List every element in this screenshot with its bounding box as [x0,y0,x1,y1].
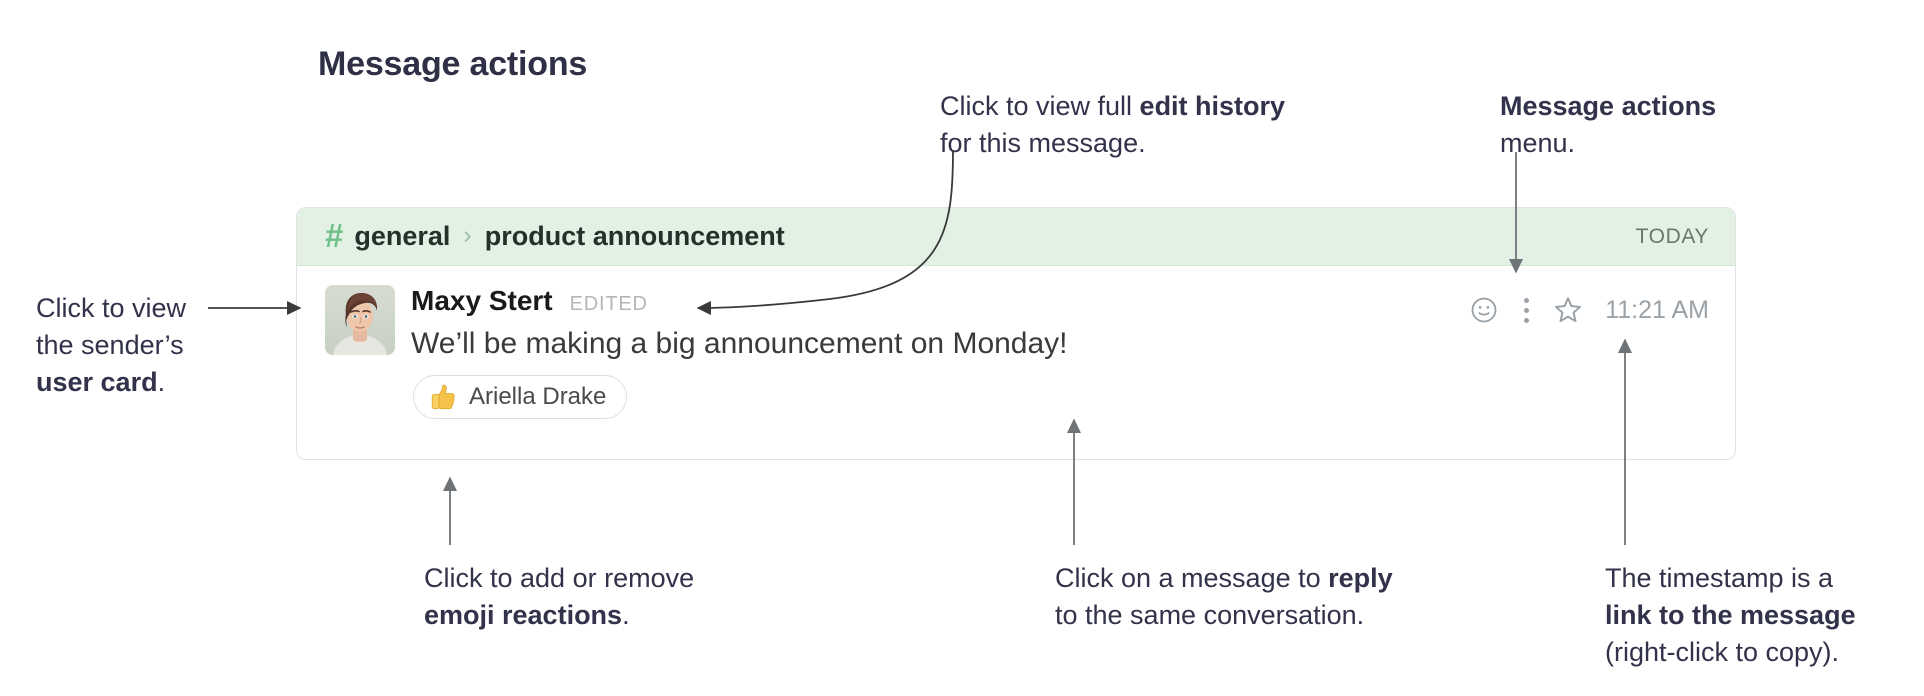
vertical-dots-glyph [1524,298,1529,323]
star-outline-icon[interactable] [1547,289,1589,331]
annotation-reply-bold: reply [1328,563,1393,593]
annotation-emoji-bold: emoji reactions [424,600,622,630]
date-label: TODAY [1636,225,1709,249]
annotation-edit-history-line1-pre: Click to view full [940,91,1140,121]
reaction-pill[interactable]: Ariella Drake [413,375,627,419]
page-title: Message actions [318,45,587,84]
annotation-actions-menu-line2: menu. [1500,128,1575,158]
dot [1524,308,1529,313]
annotation-timestamp-bold: link to the message [1605,600,1856,630]
emoji-smiley-icon[interactable] [1463,289,1505,331]
edited-badge[interactable]: EDITED [570,293,648,316]
annotation-edit-history: Click to view full edit history for this… [940,88,1360,162]
hash-icon: # [325,219,343,252]
annotation-timestamp-line1: The timestamp is a [1605,563,1833,593]
annotation-user-card-line1: Click to view [36,293,186,323]
annotation-edit-history-bold: edit history [1140,91,1286,121]
annotation-timestamp-line3: (right-click to copy). [1605,637,1839,667]
annotation-emoji-line1: Click to add or remove [424,563,694,593]
reaction-user-name: Ariella Drake [469,383,606,411]
stream-topic-header: # general › product announcement TODAY [297,208,1735,266]
message-row[interactable]: Maxy Stert EDITED We’ll be making a big … [297,266,1735,419]
topic-name[interactable]: product announcement [485,221,785,252]
annotation-actions-menu: Message actions menu. [1500,88,1800,162]
annotation-reply-line2: to the same conversation. [1055,600,1364,630]
reaction-row: Ariella Drake [411,361,1709,419]
annotation-emoji-period: . [622,600,630,630]
avatar[interactable] [325,285,395,355]
annotation-timestamp: The timestamp is a link to the message (… [1605,560,1905,671]
stream-name[interactable]: general [354,221,450,252]
message-body-text[interactable]: We’ll be making a big announcement on Mo… [411,327,1709,361]
annotation-actions-menu-bold: Message actions [1500,91,1716,121]
vertical-dots-icon[interactable] [1505,289,1547,331]
annotation-emoji-reactions: Click to add or remove emoji reactions. [424,560,764,634]
breadcrumb-separator-icon: › [463,221,471,250]
dot [1524,298,1529,303]
message-actions-group: 11:21 AM [1463,289,1709,331]
sender-name[interactable]: Maxy Stert [411,285,553,317]
message-card: # general › product announcement TODAY [296,207,1736,460]
dot [1524,318,1529,323]
thumbs-up-icon [428,382,458,412]
message-timestamp-link[interactable]: 11:21 AM [1605,296,1709,325]
annotation-reply-line1-pre: Click on a message to [1055,563,1328,593]
annotation-reply: Click on a message to reply to the same … [1055,560,1455,634]
annotation-user-card-bold: user card [36,367,158,397]
annotation-edit-history-line2: for this message. [940,128,1146,158]
annotation-user-card-line2: the sender’s [36,330,184,360]
annotation-user-card: Click to view the sender’s user card. [36,290,266,401]
annotation-user-card-period: . [158,367,166,397]
